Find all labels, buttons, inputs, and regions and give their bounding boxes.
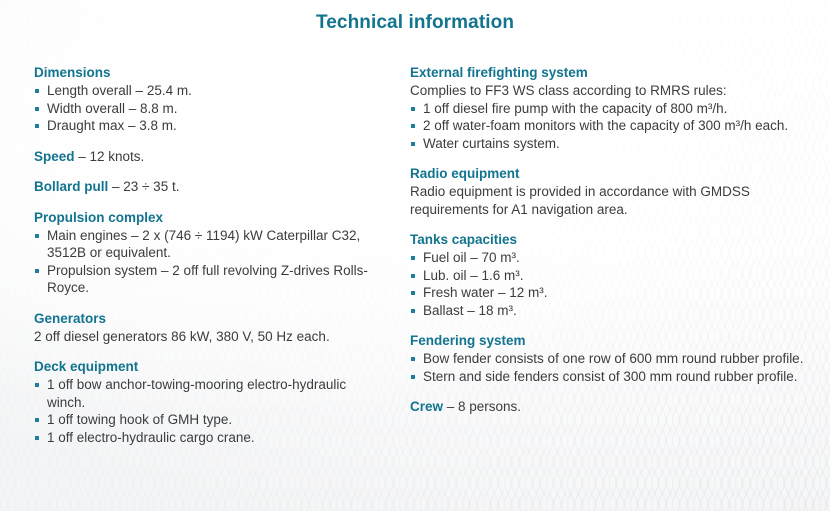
section-text-line: 2 off diesel generators 86 kW, 380 V, 50… [34, 328, 386, 346]
bullet-list: Length overall – 25.4 m.Width overall – … [34, 82, 386, 135]
section-text-line: Complies to FF3 WS class according to RM… [410, 82, 810, 100]
section-generators: Generators2 off diesel generators 86 kW,… [34, 310, 386, 346]
section-heading: Generators [34, 310, 386, 327]
section-fendering-system: Fendering systemBow fender consists of o… [410, 332, 810, 385]
list-item: Fuel oil – 70 m³. [410, 249, 810, 267]
list-item: 1 off diesel fire pump with the capacity… [410, 100, 810, 118]
section-heading: External firefighting system [410, 64, 810, 81]
section-heading: Tanks capacities [410, 231, 810, 248]
bullet-list: Fuel oil – 70 m³.Lub. oil – 1.6 m³.Fresh… [410, 249, 810, 319]
section-external-firefighting-system: External firefighting systemComplies to … [410, 64, 810, 152]
section-heading: Speed [34, 149, 75, 164]
section-heading: Radio equipment [410, 165, 810, 182]
section-radio-equipment: Radio equipmentRadio equipment is provid… [410, 165, 810, 218]
list-item: Bow fender consists of one row of 600 mm… [410, 350, 810, 368]
list-item: 1 off electro-hydraulic cargo crane. [34, 429, 386, 447]
section-heading: Dimensions [34, 64, 386, 81]
section-crew: Crew – 8 persons. [410, 398, 810, 416]
list-item: Main engines – 2 x (746 ÷ 1194) kW Cater… [34, 227, 386, 262]
list-item: Lub. oil – 1.6 m³. [410, 267, 810, 285]
list-item: Length overall – 25.4 m. [34, 82, 386, 100]
section-heading: Propulsion complex [34, 209, 386, 226]
section-heading: Bollard pull [34, 179, 108, 194]
list-item: Width overall – 8.8 m. [34, 100, 386, 118]
section-value: – 12 knots. [75, 149, 145, 164]
right-column: External firefighting systemComplies to … [410, 64, 810, 416]
section-text-line: Radio equipment is provided in accordanc… [410, 183, 810, 218]
list-item: Draught max – 3.8 m. [34, 117, 386, 135]
section-tanks-capacities: Tanks capacitiesFuel oil – 70 m³.Lub. oi… [410, 231, 810, 319]
section-speed: Speed – 12 knots. [34, 148, 386, 166]
bullet-list: Bow fender consists of one row of 600 mm… [410, 350, 810, 385]
list-item: Propulsion system – 2 off full revolving… [34, 262, 386, 297]
section-deck-equipment: Deck equipment1 off bow anchor-towing-mo… [34, 358, 386, 446]
bullet-list: 1 off bow anchor-towing-mooring electro-… [34, 376, 386, 446]
bullet-list: Main engines – 2 x (746 ÷ 1194) kW Cater… [34, 227, 386, 297]
inline-section-crew: Crew – 8 persons. [410, 398, 810, 416]
document-page: Technical information DimensionsLength o… [0, 0, 830, 511]
section-value: – 23 ÷ 35 t. [108, 179, 179, 194]
section-value: – 8 persons. [443, 399, 521, 414]
list-item: Ballast – 18 m³. [410, 302, 810, 320]
bullet-list: 1 off diesel fire pump with the capacity… [410, 100, 810, 153]
list-item: Water curtains system. [410, 135, 810, 153]
section-heading: Fendering system [410, 332, 810, 349]
section-dimensions: DimensionsLength overall – 25.4 m.Width … [34, 64, 386, 135]
inline-section-speed: Speed – 12 knots. [34, 148, 386, 166]
list-item: Fresh water – 12 m³. [410, 284, 810, 302]
left-column: DimensionsLength overall – 25.4 m.Width … [34, 64, 386, 446]
inline-section-bollard-pull: Bollard pull – 23 ÷ 35 t. [34, 178, 386, 196]
list-item: 2 off water-foam monitors with the capac… [410, 117, 810, 135]
list-item: 1 off towing hook of GMH type. [34, 411, 386, 429]
page-title: Technical information [0, 12, 830, 34]
section-heading: Deck equipment [34, 358, 386, 375]
section-bollard-pull: Bollard pull – 23 ÷ 35 t. [34, 178, 386, 196]
section-propulsion-complex: Propulsion complexMain engines – 2 x (74… [34, 209, 386, 297]
list-item: Stern and side fenders consist of 300 mm… [410, 368, 810, 386]
list-item: 1 off bow anchor-towing-mooring electro-… [34, 376, 386, 411]
section-heading: Crew [410, 399, 443, 414]
